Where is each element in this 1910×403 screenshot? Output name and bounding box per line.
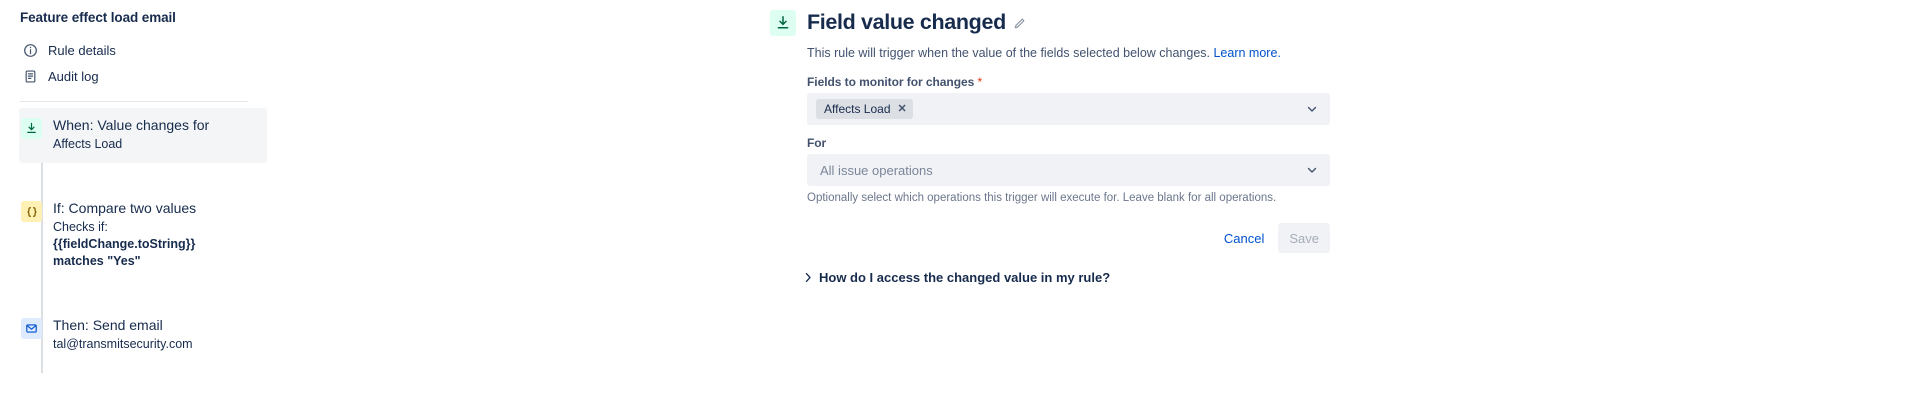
component-subtitle-expression: {{fieldChange.toString}} matches "Yes"	[53, 237, 195, 268]
fields-to-monitor-label: Fields to monitor for changes *	[807, 75, 1330, 89]
page-title: Feature effect load email	[20, 10, 248, 25]
form-actions: Cancel Save	[807, 223, 1330, 253]
rule-component-condition[interactable]: If: Compare two values Checks if: {{fiel…	[20, 191, 248, 280]
component-subtitle: tal@transmitsecurity.com	[53, 336, 193, 353]
for-label: For	[807, 136, 1330, 150]
detail-title: Field value changed	[807, 9, 1026, 36]
component-subtitle: Affects Load	[53, 136, 209, 153]
detail-description-text: This rule will trigger when the value of…	[807, 46, 1210, 60]
fields-to-monitor-select[interactable]: Affects Load ✕	[807, 93, 1330, 125]
for-operations-placeholder: All issue operations	[816, 163, 933, 178]
detail-title-text: Field value changed	[807, 10, 1006, 34]
envelope-icon	[21, 318, 42, 339]
rule-component-action[interactable]: Then: Send email tal@transmitsecurity.co…	[20, 308, 248, 363]
sidebar-item-audit-log[interactable]: Audit log	[20, 63, 248, 89]
sidebar-item-label: Rule details	[48, 43, 116, 58]
cancel-button[interactable]: Cancel	[1213, 223, 1275, 253]
info-circle-icon	[23, 43, 38, 58]
trigger-detail-panel: Field value changed This rule will trigg…	[770, 0, 1370, 285]
chevron-right-icon	[804, 272, 812, 283]
document-icon	[23, 69, 38, 84]
chip-label: Affects Load	[824, 102, 891, 116]
for-operations-select[interactable]: All issue operations	[807, 154, 1330, 186]
form-spacer	[807, 125, 1330, 136]
chevron-down-icon	[1305, 102, 1319, 116]
required-marker: *	[978, 75, 983, 89]
component-title: If: Compare two values	[53, 199, 240, 218]
rule-sidebar: Feature effect load email Rule details	[0, 0, 268, 403]
trigger-icon	[770, 10, 796, 36]
detail-description: This rule will trigger when the value of…	[807, 45, 1370, 62]
component-title: When: Value changes for	[53, 116, 209, 135]
automation-rule-editor: Feature effect load email Rule details	[0, 0, 1910, 403]
sidebar-divider	[20, 101, 248, 102]
fields-to-monitor-label-text: Fields to monitor for changes	[807, 75, 974, 89]
detail-header: Field value changed	[770, 9, 1370, 36]
trigger-icon	[21, 118, 42, 139]
rule-component-trigger[interactable]: When: Value changes for Affects Load	[19, 108, 267, 163]
chevron-down-icon	[1305, 163, 1319, 177]
sidebar-item-rule-details[interactable]: Rule details	[20, 37, 248, 63]
pencil-icon[interactable]	[1013, 17, 1026, 30]
component-subtitle-prefix: Checks if:	[53, 220, 108, 234]
chain-gap	[20, 280, 248, 308]
rule-component-chain: When: Value changes for Affects Load If:…	[20, 108, 248, 363]
expander-label: How do I access the changed value in my …	[819, 270, 1110, 285]
trigger-config-form: Fields to monitor for changes * Affects …	[807, 75, 1330, 253]
field-chip-affects-load[interactable]: Affects Load ✕	[816, 99, 913, 119]
learn-more-link[interactable]: Learn more.	[1213, 46, 1280, 60]
save-button[interactable]: Save	[1278, 223, 1330, 253]
chain-gap	[20, 163, 248, 191]
component-title: Then: Send email	[53, 316, 193, 335]
for-operations-helper-text: Optionally select which operations this …	[807, 191, 1330, 206]
chip-remove-icon[interactable]: ✕	[898, 104, 907, 115]
braces-icon	[21, 201, 42, 222]
sidebar-item-label: Audit log	[48, 69, 99, 84]
changed-value-help-expander[interactable]: How do I access the changed value in my …	[804, 270, 1370, 285]
